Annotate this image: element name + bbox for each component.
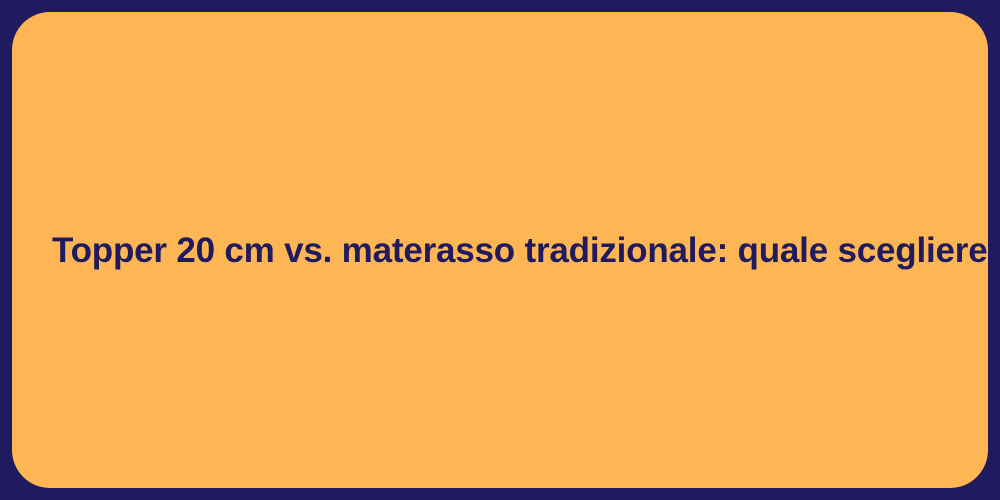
page-title: Topper 20 cm vs. materasso tradizionale:… (12, 229, 988, 273)
banner-card: Topper 20 cm vs. materasso tradizionale:… (12, 12, 988, 488)
banner-frame: Topper 20 cm vs. materasso tradizionale:… (0, 0, 1000, 500)
